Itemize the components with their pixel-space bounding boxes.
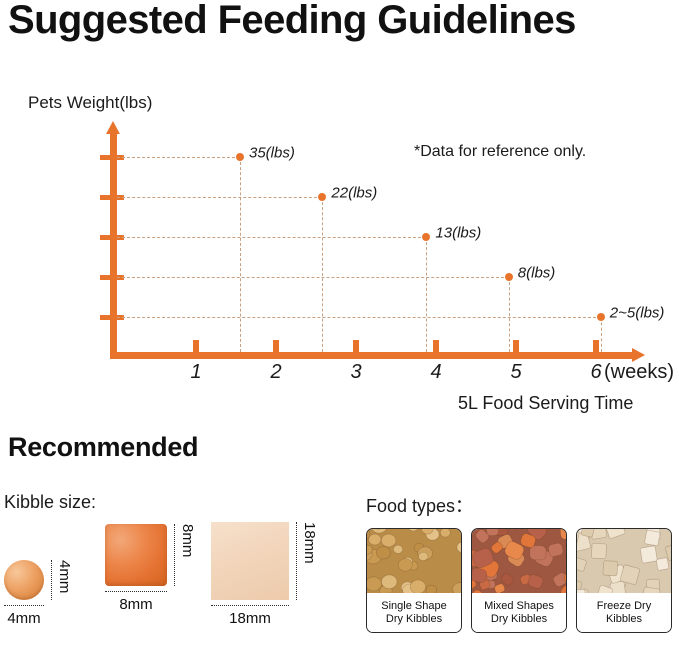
x-axis-tick-label-3: 3 xyxy=(350,361,361,384)
food-type-caption-2: Mixed ShapesDry Kibbles xyxy=(472,593,566,632)
food-type-caption-line1: Freeze Dry xyxy=(597,600,651,613)
square-kibble-width-dimension-line xyxy=(105,591,167,592)
food-type-photo-3 xyxy=(577,529,671,593)
gridline-horizontal-poodle xyxy=(117,237,426,238)
gridline-vertical-persian xyxy=(509,277,510,352)
data-point-label-kitty-puppy: 2~5(lbs) xyxy=(610,305,665,322)
page-title: Suggested Feeding Guidelines xyxy=(8,0,576,43)
x-axis-tick-mark-5 xyxy=(513,340,519,353)
x-axis-tick-mark-2 xyxy=(273,340,279,353)
round-kibble-width-dimension-line xyxy=(4,605,44,606)
gridline-horizontal-ragdoll xyxy=(117,197,322,198)
x-axis-tick-label-4: 4 xyxy=(430,361,441,384)
freeze-dry-cube-height-dimension-line xyxy=(296,522,297,600)
gridline-vertical-poodle xyxy=(426,237,427,352)
kibble-size-label: Kibble size: xyxy=(4,492,96,513)
food-type-card-3[interactable]: Freeze DryKibbles xyxy=(576,528,672,633)
y-axis-tick-ragdoll: Ragdoll xyxy=(0,195,124,200)
round-kibble-height-label: 4mm xyxy=(56,560,73,593)
x-axis-tick-mark-6 xyxy=(593,340,599,353)
round-kibble-height-dimension-line xyxy=(51,560,52,600)
gridline-vertical-ragdoll xyxy=(322,197,323,352)
freeze-dry-cube-swatch xyxy=(211,522,289,600)
data-point-label-persian: 8(lbs) xyxy=(518,265,556,282)
food-type-caption-line1: Single Shape xyxy=(381,600,446,613)
x-axis-tick-mark-4 xyxy=(433,340,439,353)
data-point-bulldog[interactable] xyxy=(236,153,244,161)
square-kibble-width-label: 8mm xyxy=(119,596,152,613)
chart-disclaimer: *Data for reference only. xyxy=(414,143,586,161)
data-point-poodle[interactable] xyxy=(422,233,430,241)
food-type-caption-line1: Mixed Shapes xyxy=(484,600,554,613)
food-type-photo-2 xyxy=(472,529,566,593)
data-point-label-poodle: 13(lbs) xyxy=(435,225,481,242)
food-type-caption-line2: Dry Kibbles xyxy=(386,613,442,626)
round-kibble-width-label: 4mm xyxy=(7,610,40,627)
data-point-label-bulldog: 35(lbs) xyxy=(249,145,295,162)
square-kibble-height-dimension-line xyxy=(174,524,175,586)
data-point-label-ragdoll: 22(lbs) xyxy=(331,185,377,202)
food-type-card-2[interactable]: Mixed ShapesDry Kibbles xyxy=(471,528,567,633)
y-axis-title: Pets Weight(lbs) xyxy=(28,93,152,113)
data-point-persian[interactable] xyxy=(505,273,513,281)
data-point-ragdoll[interactable] xyxy=(318,193,326,201)
feeding-guidelines-infographic: Suggested Feeding Guidelines Pets Weight… xyxy=(0,0,679,645)
square-kibble-height-label: 8mm xyxy=(179,524,196,557)
x-axis-tick-mark-3 xyxy=(353,340,359,353)
x-axis-tick-mark-1 xyxy=(193,340,199,353)
gridline-horizontal-persian xyxy=(117,277,509,278)
x-axis-tick-label-1: 1 xyxy=(190,361,201,384)
freeze-dry-cube-width-label: 18mm xyxy=(229,610,271,627)
gridline-vertical-bulldog xyxy=(240,157,241,352)
y-axis-tick-bulldog: Bulldog xyxy=(0,155,124,160)
freeze-dry-cube-width-dimension-line xyxy=(211,605,289,606)
food-type-caption-line2: Kibbles xyxy=(606,613,642,626)
gridline-vertical-kitty-puppy xyxy=(601,317,602,352)
y-axis-tick-kitty-puppy: Kitty/Puppy xyxy=(0,315,124,320)
food-type-caption-1: Single ShapeDry Kibbles xyxy=(367,593,461,632)
round-kibble-swatch xyxy=(4,560,44,600)
x-axis-tick-label-5: 5 xyxy=(510,361,521,384)
gridline-horizontal-kitty-puppy xyxy=(117,317,601,318)
food-type-card-1[interactable]: Single ShapeDry Kibbles xyxy=(366,528,462,633)
x-axis-unit-label: (weeks) xyxy=(604,361,674,384)
food-types-label: Food types： xyxy=(366,492,473,518)
y-axis-line xyxy=(110,131,117,359)
square-kibble-swatch xyxy=(105,524,167,586)
freeze-dry-cube-height-label: 18mm xyxy=(301,522,318,564)
data-point-kitty-puppy[interactable] xyxy=(597,313,605,321)
y-axis-tick-poodle: Poodle xyxy=(0,235,124,240)
food-type-caption-line2: Dry Kibbles xyxy=(491,613,547,626)
food-type-caption-3: Freeze DryKibbles xyxy=(577,593,671,632)
y-axis-tick-persian: Persian xyxy=(0,275,124,280)
food-type-photo-1 xyxy=(367,529,461,593)
feeding-chart: Pets Weight(lbs) *Data for reference onl… xyxy=(0,85,679,405)
x-axis-title: 5L Food Serving Time xyxy=(458,393,633,414)
gridline-horizontal-bulldog xyxy=(117,157,240,158)
x-axis-arrow-icon xyxy=(632,348,645,362)
x-axis-tick-label-2: 2 xyxy=(270,361,281,384)
x-axis-tick-label-6: 6 xyxy=(590,361,601,384)
recommended-heading: Recommended xyxy=(8,432,198,463)
x-axis-line xyxy=(110,352,634,359)
